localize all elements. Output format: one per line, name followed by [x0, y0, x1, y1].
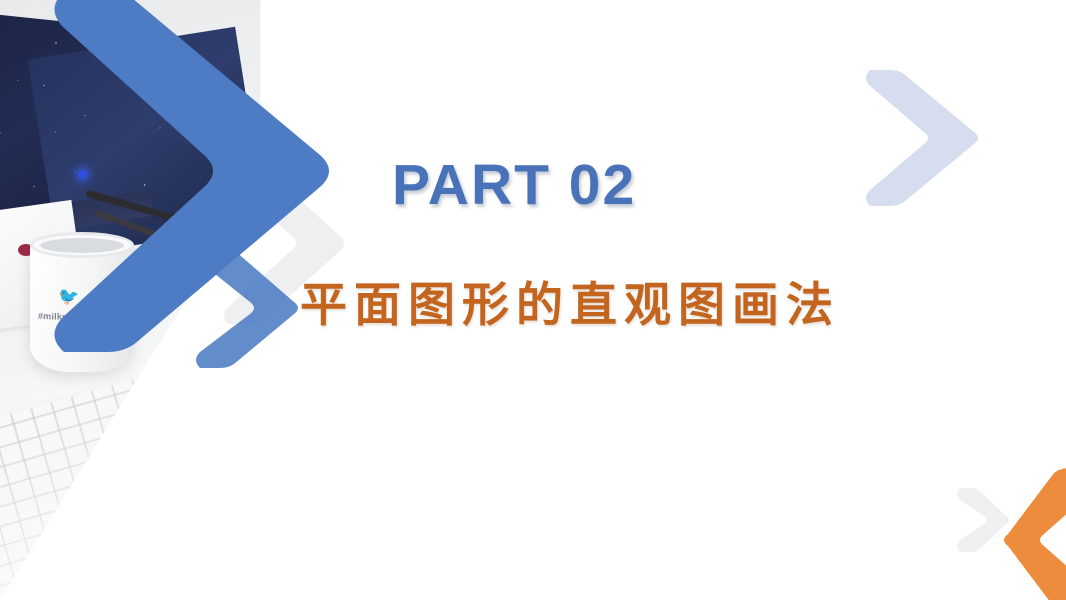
part-label: PART 02: [392, 152, 636, 218]
presentation-slide: 🐦 #milknotsugar: [0, 0, 1066, 600]
chevron-light-blue-icon: [858, 62, 988, 214]
page-title: 平面图形的直观图画法: [300, 266, 840, 335]
chevron-blue-small-icon: [186, 236, 306, 376]
watermark: 小站: [1004, 572, 1030, 589]
